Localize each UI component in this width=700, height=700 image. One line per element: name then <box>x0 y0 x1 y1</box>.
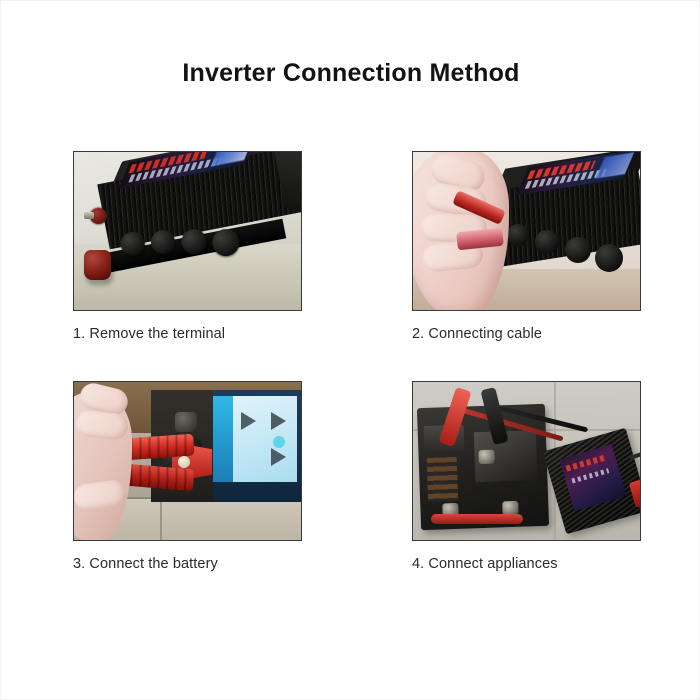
steps-grid: 1. Remove the terminal <box>73 151 643 572</box>
terminal-knob <box>565 237 591 263</box>
clamp-pivot-pin <box>178 456 190 468</box>
battery-label <box>213 396 297 482</box>
removed-terminal-cap <box>84 250 111 280</box>
warning-triangle-icon <box>271 448 286 466</box>
photo-remove-terminal <box>73 151 302 311</box>
car-battery <box>417 404 549 530</box>
step-caption-3: 3. Connect the battery <box>73 556 302 572</box>
terminal-knob <box>507 224 529 246</box>
battery-cell-strip <box>427 457 459 502</box>
step-caption-4: 4. Connect appliances <box>412 556 641 572</box>
step-caption-2: 2. Connecting cable <box>412 326 641 342</box>
battery-vent-nut <box>175 412 197 432</box>
terminal-knob <box>535 230 559 254</box>
photo-connecting-cable <box>412 151 641 311</box>
warning-triangle-icon <box>271 412 286 430</box>
terminal-screw <box>84 212 94 219</box>
step-caption-1: 1. Remove the terminal <box>73 326 302 342</box>
photo-connect-appliances <box>412 381 641 541</box>
page-title: Inverter Connection Method <box>1 59 700 88</box>
floor-seam <box>160 499 162 540</box>
terminal-knob <box>149 228 177 256</box>
terminal-knob <box>595 244 623 272</box>
red-battery-cable <box>431 514 523 524</box>
infographic-page: Inverter Connection Method <box>0 0 700 700</box>
steps-row-2: 3. Connect the battery <box>73 381 643 572</box>
inverter-terminal-knobs <box>507 224 627 272</box>
warning-triangle-icon <box>241 412 256 430</box>
step-card-1: 1. Remove the terminal <box>73 151 302 342</box>
step-card-2: 2. Connecting cable <box>412 151 641 342</box>
step-card-3: 3. Connect the battery <box>73 381 302 572</box>
terminal-knob <box>179 227 208 256</box>
step-card-4: 4. Connect appliances <box>412 381 641 572</box>
terminal-knob <box>119 230 147 258</box>
label-blue-band <box>213 396 233 482</box>
steps-row-1: 1. Remove the terminal <box>73 151 643 342</box>
battery-terminal-post <box>478 450 494 465</box>
photo-connect-battery <box>73 381 302 541</box>
terminal-knob <box>210 227 242 259</box>
label-white-text <box>571 468 609 483</box>
label-circle-icon <box>273 436 285 448</box>
